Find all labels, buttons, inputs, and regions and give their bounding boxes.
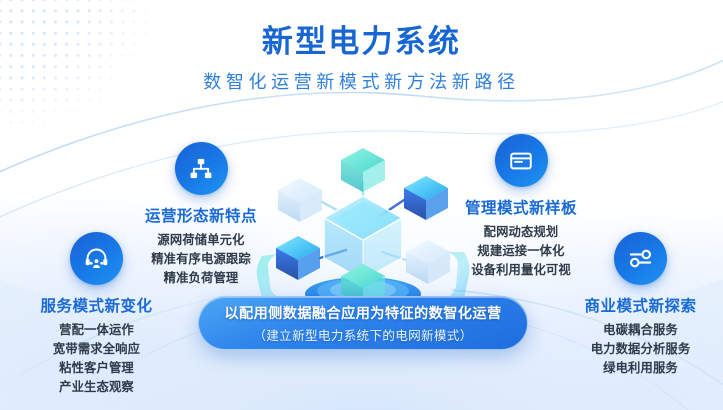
summary-banner[interactable]: 以配用侧数据融合应用为特征的数智化运营 （建立新型电力系统下的电网新模式） — [198, 296, 528, 350]
list-item: 营配一体运作 — [14, 321, 179, 340]
hierarchy-network-icon[interactable] — [175, 142, 228, 195]
page-title: 新型电力系统 — [0, 24, 723, 61]
list-item: 绿电利用服务 — [558, 359, 723, 378]
list-item: 宽带需求全响应 — [14, 340, 179, 359]
page-subtitle: 数智化运营新模式新方法新路径 — [0, 68, 723, 94]
list-item: 电碳耦合服务 — [558, 321, 723, 340]
satellite-cube-lower-left — [276, 236, 320, 280]
group-business-model[interactable]: 商业模式新探索 电碳耦合服务 电力数据分析服务 绿电利用服务 — [558, 232, 723, 378]
list-item: 产业生态观察 — [14, 378, 179, 397]
group-item-list: 源网荷储单元化 精准有序电源跟踪 精准负荷管理 — [120, 231, 282, 288]
group-title: 运营形态新特点 — [120, 204, 282, 226]
group-operation-form[interactable]: 运营形态新特点 源网荷储单元化 精准有序电源跟踪 精准负荷管理 — [120, 142, 282, 288]
satellite-cube-upper-left — [278, 178, 322, 222]
group-title: 管理模式新样板 — [440, 196, 602, 218]
title-block: 新型电力系统 数智化运营新模式新方法新路径 — [0, 24, 723, 94]
group-item-list: 营配一体运作 宽带需求全响应 粘性客户管理 产业生态观察 — [14, 321, 179, 397]
list-item: 电力数据分析服务 — [558, 340, 723, 359]
window-dashboard-icon[interactable] — [495, 134, 548, 187]
list-item: 粘性客户管理 — [14, 359, 179, 378]
satellite-cube-top — [341, 148, 385, 192]
banner-line-primary: 以配用侧数据融合应用为特征的数智化运营 — [224, 303, 501, 323]
group-title: 商业模式新探索 — [558, 294, 723, 316]
headset-support-icon[interactable] — [70, 232, 123, 285]
list-item: 源网荷储单元化 — [120, 231, 282, 250]
group-item-list: 电碳耦合服务 电力数据分析服务 绿电利用服务 — [558, 321, 723, 378]
list-item: 精准有序电源跟踪 — [120, 250, 282, 269]
banner-line-secondary: （建立新型电力系统下的电网新模式） — [253, 325, 472, 344]
infographic-canvas: 新型电力系统 数智化运营新模式新方法新路径 — [0, 0, 723, 410]
list-item: 精准负荷管理 — [120, 269, 282, 288]
sliders-controls-icon[interactable] — [614, 232, 667, 285]
group-title: 服务模式新变化 — [14, 294, 179, 316]
